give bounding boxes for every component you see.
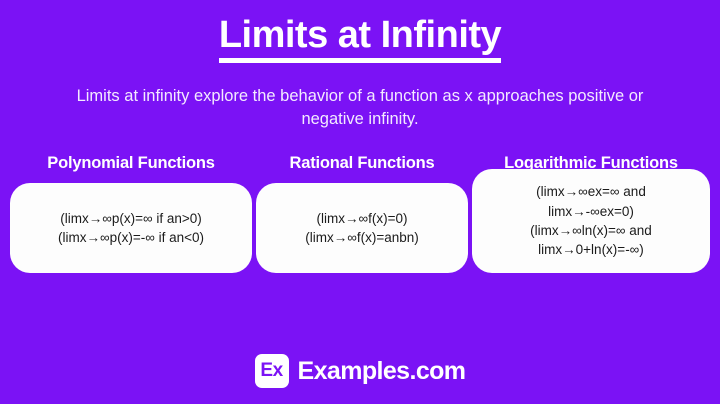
formula-card-rational: (limx→∞f(x)=0) (limx→∞f(x)=anbn) [256, 183, 468, 273]
function-columns: Polynomial Functions (limx→∞p(x)=∞ if an… [0, 154, 720, 273]
page-title: Limits at Infinity [219, 16, 501, 63]
brand-name: Examples.com [298, 357, 466, 386]
column-logarithmic-functions: Logarithmic Functions (limx→∞ex=∞ and li… [472, 154, 710, 273]
formula-card-logarithmic: (limx→∞ex=∞ and limx→-∞ex=0) (limx→∞ln(x… [472, 169, 710, 273]
formula-line: limx→0+ln(x)=-∞) [538, 240, 644, 259]
formula-line: limx→-∞ex=0) [548, 202, 634, 221]
examples-logo-icon: Ex [255, 354, 289, 388]
formula-line: (limx→∞p(x)=∞ if an>0) [60, 209, 202, 228]
column-polynomial-functions: Polynomial Functions (limx→∞p(x)=∞ if an… [10, 154, 252, 273]
column-heading-rational: Rational Functions [290, 154, 435, 173]
column-rational-functions: Rational Functions (limx→∞f(x)=0) (limx→… [256, 154, 468, 273]
column-heading-polynomial: Polynomial Functions [47, 154, 214, 173]
formula-line: (limx→∞ex=∞ and [536, 182, 646, 201]
page-subtitle: Limits at infinity explore the behavior … [70, 85, 650, 132]
formula-line: (limx→∞f(x)=anbn) [305, 228, 419, 247]
formula-line: (limx→∞p(x)=-∞ if an<0) [58, 228, 204, 247]
formula-card-polynomial: (limx→∞p(x)=∞ if an>0) (limx→∞p(x)=-∞ if… [10, 183, 252, 273]
infographic-root: Limits at Infinity Limits at infinity ex… [0, 0, 720, 404]
title-container: Limits at Infinity [219, 16, 501, 63]
formula-line: (limx→∞ln(x)=∞ and [530, 221, 652, 240]
footer-branding: Ex Examples.com [0, 354, 720, 388]
formula-line: (limx→∞f(x)=0) [317, 209, 408, 228]
